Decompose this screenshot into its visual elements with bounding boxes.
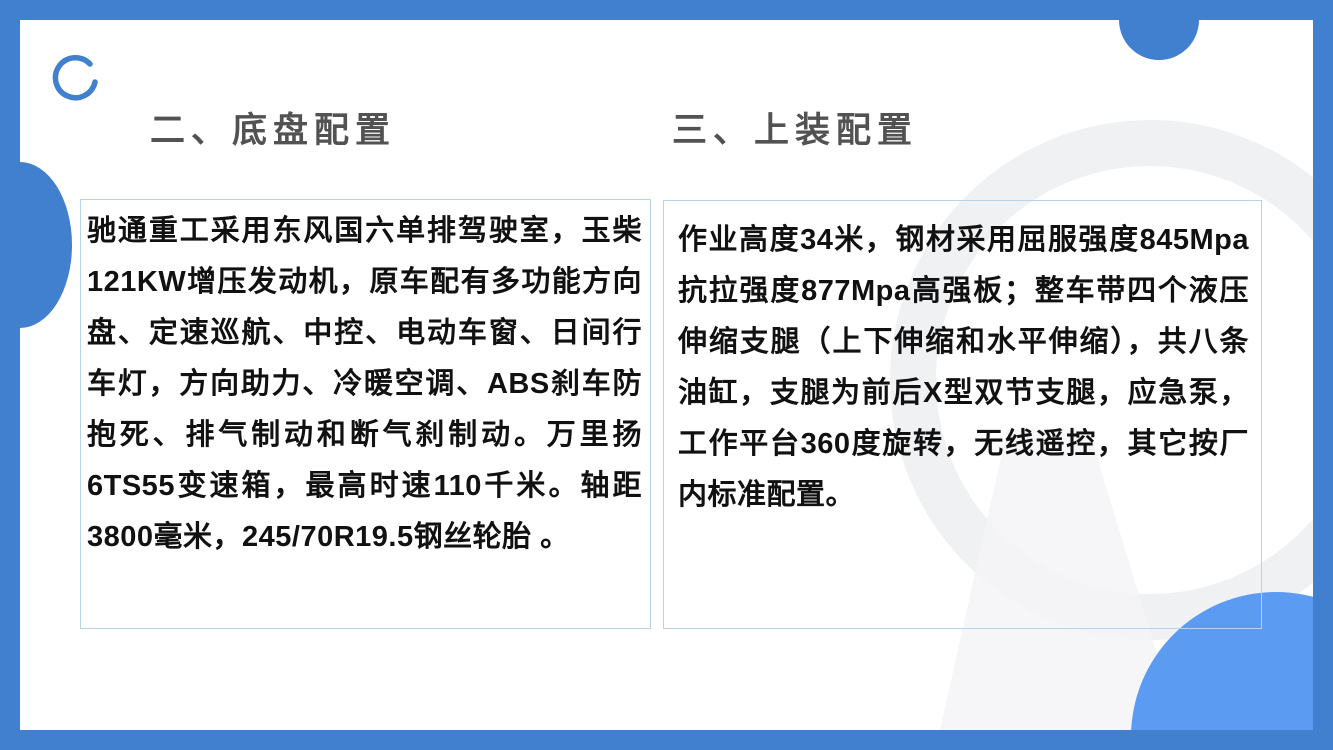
frame-border-right xyxy=(1313,0,1333,750)
half-circle-top-icon xyxy=(1119,0,1199,60)
frame-border-left xyxy=(0,0,20,750)
section-heading-chassis: 二、底盘配置 xyxy=(150,102,396,153)
textbox-superstructure-config: 作业高度34米，钢材采用屈服强度845Mpa抗拉强度877Mpa高强板；整车带四… xyxy=(663,200,1262,629)
presentation-slide: 二、底盘配置 三、上装配置 驰通重工采用东风国六单排驾驶室，玉柴121KW增压发… xyxy=(0,0,1333,750)
section-heading-superstructure: 三、上装配置 xyxy=(672,102,918,153)
frame-border-bottom xyxy=(0,730,1333,750)
half-circle-left-icon xyxy=(0,162,72,328)
textbox-chassis-config: 驰通重工采用东风国六单排驾驶室，玉柴121KW增压发动机，原车配有多功能方向盘、… xyxy=(80,199,651,629)
loading-ring-icon xyxy=(52,54,104,106)
